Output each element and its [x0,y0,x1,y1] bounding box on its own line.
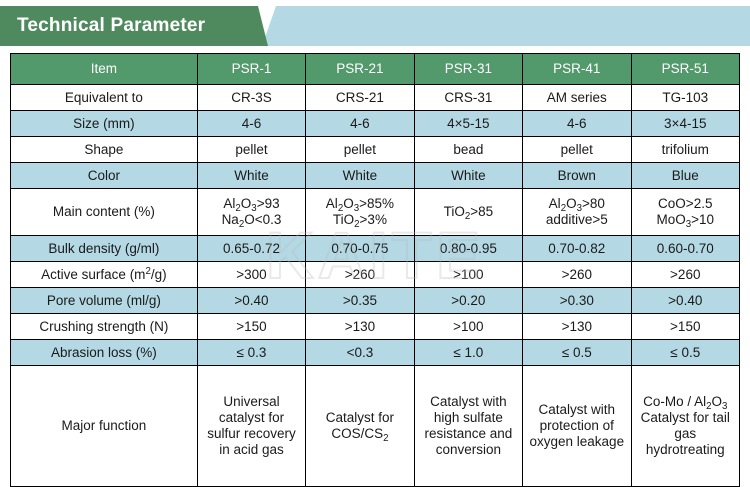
column-header-item: Item [11,54,198,85]
table-cell: pellet [306,137,414,163]
banner-green-block: Technical Parameter [0,6,268,46]
table-cell: CR-3S [197,85,305,111]
table-head: Item PSR-1 PSR-21 PSR-31 PSR-41 PSR-51 [11,54,740,85]
banner-blue-accent [262,6,750,46]
table-cell: >100 [414,262,522,288]
table-cell: Catalyst with high sulfate resistance an… [414,366,522,487]
row-label: Major function [11,366,198,487]
table-body: Equivalent toCR-3SCRS-21CRS-31AM seriesT… [11,85,740,487]
table-cell: White [306,163,414,189]
table-cell: Al2O3>80additive>5 [523,189,631,236]
table-cell: >0.40 [197,288,305,314]
table-cell: ≤ 0.3 [197,340,305,366]
table-cell: >0.30 [523,288,631,314]
column-header-psr-21: PSR-21 [306,54,414,85]
table-row: Shapepelletpelletbeadpellettrifolium [11,137,740,163]
table-cell: ≤ 0.5 [631,340,739,366]
table-cell: ≤ 1.0 [414,340,522,366]
row-label: Shape [11,137,198,163]
table-cell: trifolium [631,137,739,163]
table-cell: >0.35 [306,288,414,314]
parameter-table-wrapper: Item PSR-1 PSR-21 PSR-31 PSR-41 PSR-51 E… [10,53,740,487]
row-label: Equivalent to [11,85,198,111]
table-row: Pore volume (ml/g)>0.40>0.35>0.20>0.30>0… [11,288,740,314]
table-cell: >100 [414,314,522,340]
table-cell: Catalyst for COS/CS2 [306,366,414,487]
table-cell: Catalyst with protection of oxygen leaka… [523,366,631,487]
table-cell: CRS-21 [306,85,414,111]
table-cell: >260 [631,262,739,288]
table-cell: Al2O3>93Na2O<0.3 [197,189,305,236]
table-cell: 0.70-0.82 [523,236,631,262]
table-cell: Al2O3>85%TiO2>3% [306,189,414,236]
table-cell: CoO>2.5MoO3>10 [631,189,739,236]
table-cell: AM series [523,85,631,111]
table-cell: 4-6 [197,111,305,137]
table-cell: <0.3 [306,340,414,366]
table-row: Main content (%)Al2O3>93Na2O<0.3Al2O3>85… [11,189,740,236]
table-cell: pellet [523,137,631,163]
column-header-psr-51: PSR-51 [631,54,739,85]
table-header-row: Item PSR-1 PSR-21 PSR-31 PSR-41 PSR-51 [11,54,740,85]
table-cell: Universal catalyst for sulfur recovery i… [197,366,305,487]
table-row: ColorWhiteWhiteWhiteBrownBlue [11,163,740,189]
row-label: Size (mm) [11,111,198,137]
banner: Technical Parameter [0,6,750,46]
table-cell: Co-Mo / Al2O3 Catalyst for tail gas hydr… [631,366,739,487]
table-cell: White [197,163,305,189]
row-label: Active surface (m2/g) [11,262,198,288]
row-label: Color [11,163,198,189]
table-cell: pellet [197,137,305,163]
row-label: Main content (%) [11,189,198,236]
table-row: Size (mm)4-64-64×5-154-63×4-15 [11,111,740,137]
table-cell: >130 [523,314,631,340]
table-row: Bulk density (g/ml)0.65-0.720.70-0.750.8… [11,236,740,262]
table-row: Crushing strength (N)>150>130>100>130>15… [11,314,740,340]
column-header-psr-41: PSR-41 [523,54,631,85]
table-cell: >260 [306,262,414,288]
table-cell: bead [414,137,522,163]
table-cell: 3×4-15 [631,111,739,137]
table-cell: >300 [197,262,305,288]
table-cell: >0.20 [414,288,522,314]
table-row: Major functionUniversal catalyst for sul… [11,366,740,487]
table-cell: Brown [523,163,631,189]
table-cell: >0.40 [631,288,739,314]
table-cell: 4-6 [523,111,631,137]
table-cell: Blue [631,163,739,189]
table-cell: 4×5-15 [414,111,522,137]
table-row: Equivalent toCR-3SCRS-21CRS-31AM seriesT… [11,85,740,111]
table-row: Active surface (m2/g)>300>260>100>260>26… [11,262,740,288]
row-label: Bulk density (g/ml) [11,236,198,262]
row-label: Crushing strength (N) [11,314,198,340]
row-label: Abrasion loss (%) [11,340,198,366]
table-cell: White [414,163,522,189]
technical-parameter-page: Technical Parameter KAITE Item PSR-1 PSR… [0,0,750,457]
table-cell: 4-6 [306,111,414,137]
table-cell: 0.65-0.72 [197,236,305,262]
table-cell: >260 [523,262,631,288]
table-row: Abrasion loss (%)≤ 0.3<0.3≤ 1.0≤ 0.5≤ 0.… [11,340,740,366]
table-cell: TG-103 [631,85,739,111]
table-cell: 0.60-0.70 [631,236,739,262]
table-cell: >130 [306,314,414,340]
column-header-psr-31: PSR-31 [414,54,522,85]
table-cell: 0.70-0.75 [306,236,414,262]
table-cell: >150 [197,314,305,340]
table-cell: CRS-31 [414,85,522,111]
page-title: Technical Parameter [0,15,205,37]
table-cell: >150 [631,314,739,340]
parameter-table: Item PSR-1 PSR-21 PSR-31 PSR-41 PSR-51 E… [10,53,740,487]
row-label: Pore volume (ml/g) [11,288,198,314]
table-cell: 0.80-0.95 [414,236,522,262]
table-cell: TiO2>85 [414,189,522,236]
table-cell: ≤ 0.5 [523,340,631,366]
column-header-psr-1: PSR-1 [197,54,305,85]
